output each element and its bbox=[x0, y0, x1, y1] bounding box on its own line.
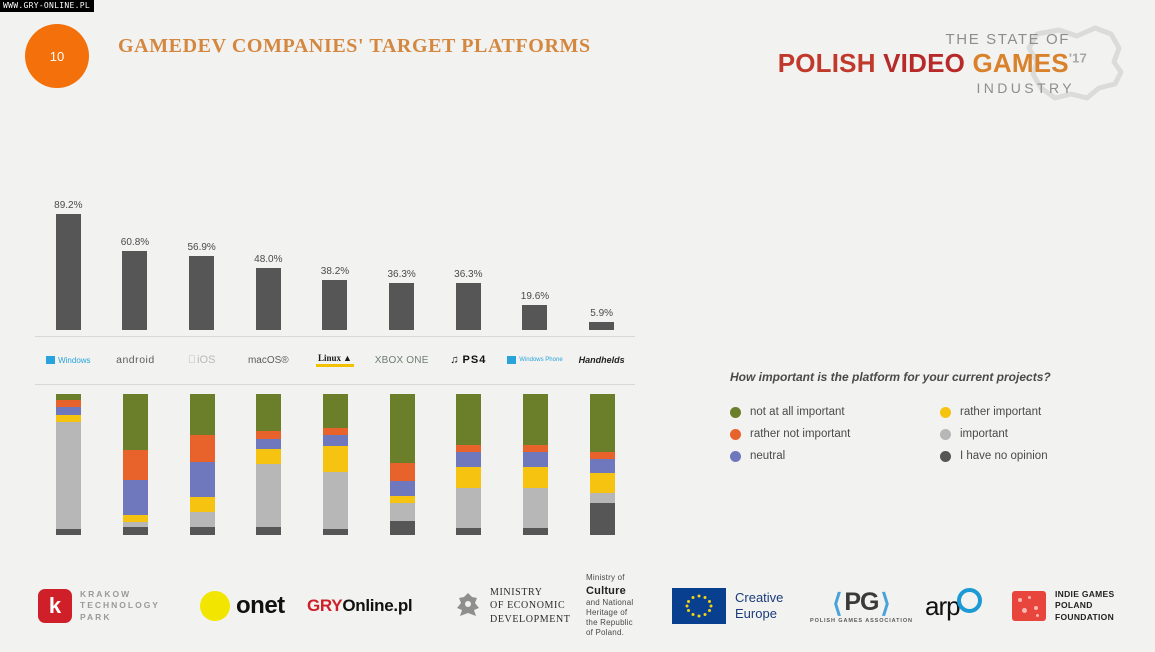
stacked-bar-column bbox=[102, 394, 169, 535]
chevron-right-icon: ⟩ bbox=[881, 590, 891, 616]
logo-creative-europe[interactable]: Creative Europe bbox=[672, 576, 783, 636]
bar-value-label: 60.8% bbox=[102, 237, 169, 248]
platform-label-windows-phone: Windows Phone bbox=[502, 336, 569, 384]
footer-sponsor-bar: k KRAKOW TECHNOLOGY PARK onet GRYOnline.… bbox=[0, 560, 1155, 652]
platform-label-android: android bbox=[102, 336, 169, 384]
bar-column: 56.9% bbox=[168, 242, 235, 330]
stack-segment bbox=[123, 527, 148, 535]
legend-label: neutral bbox=[750, 450, 785, 462]
legend-column-left: not at all importantrather not important… bbox=[730, 406, 910, 462]
stack-segment bbox=[390, 463, 415, 481]
legend-color-dot-icon bbox=[940, 429, 951, 440]
stack-segment bbox=[456, 445, 481, 452]
stack-segment bbox=[323, 435, 348, 446]
bar-rect bbox=[322, 280, 347, 330]
bar-column: 5.9% bbox=[568, 308, 635, 330]
stacked-bar bbox=[190, 394, 215, 535]
slide-number-text: 10 bbox=[50, 49, 64, 64]
logo-word-video: VIDEO bbox=[883, 48, 965, 78]
handhelds-logo-icon: Handhelds bbox=[579, 355, 625, 365]
stack-segment bbox=[190, 462, 215, 497]
legend-item[interactable]: I have no opinion bbox=[940, 450, 1120, 462]
stack-segment bbox=[390, 503, 415, 521]
platform-label-row: WindowsandroidiOSmacOS®Linux▲XBOX ONE♫P… bbox=[35, 336, 635, 384]
ktp-line-1: KRAKOW bbox=[80, 589, 160, 600]
stack-segment bbox=[590, 473, 615, 493]
stack-segment bbox=[56, 422, 81, 529]
bar-value-label: 48.0% bbox=[235, 254, 302, 265]
mc-line-2: Culture bbox=[586, 584, 633, 598]
logo-ministry-economic-development[interactable]: MINISTRY OF ECONOMIC DEVELOPMENT bbox=[455, 576, 570, 636]
stacked-bar-column bbox=[235, 394, 302, 535]
bar-value-label: 89.2% bbox=[35, 200, 102, 211]
platform-label-macos: macOS® bbox=[235, 336, 302, 384]
stack-segment bbox=[256, 449, 281, 465]
logo-word-polish: POLISH bbox=[778, 48, 876, 78]
bar-column: 38.2% bbox=[302, 266, 369, 330]
legend-column-right: rather importantimportantI have no opini… bbox=[940, 406, 1120, 462]
arp-ring-icon bbox=[957, 588, 982, 613]
stacked-bar bbox=[323, 394, 348, 535]
slide-number-badge: 10 bbox=[25, 24, 89, 88]
stack-segment bbox=[123, 394, 148, 450]
stack-segment bbox=[456, 452, 481, 468]
stack-segment bbox=[56, 415, 81, 422]
stack-segment bbox=[256, 464, 281, 526]
stack-segment bbox=[323, 472, 348, 530]
ministry-culture-text: Ministry of Culture and National Heritag… bbox=[586, 573, 633, 638]
stack-segment bbox=[523, 394, 548, 445]
mod-line-2: OF ECONOMIC bbox=[490, 599, 570, 613]
legend-label: I have no opinion bbox=[960, 450, 1048, 462]
bar-column: 89.2% bbox=[35, 200, 102, 330]
ktp-line-2: TECHNOLOGY bbox=[80, 600, 160, 611]
android-logo-icon: android bbox=[116, 355, 155, 366]
stacked-bar bbox=[590, 394, 615, 535]
legend-question: How important is the platform for your c… bbox=[730, 370, 1130, 384]
ps4-logo-icon: ♫PS4 bbox=[450, 354, 486, 366]
stacked-bar bbox=[56, 394, 81, 535]
stack-segment bbox=[590, 493, 615, 503]
stacked-bar-column bbox=[35, 394, 102, 535]
bar-column: 19.6% bbox=[502, 291, 569, 330]
stack-segment bbox=[323, 394, 348, 428]
stack-segment bbox=[190, 527, 215, 535]
stack-segment bbox=[390, 481, 415, 495]
stack-segment bbox=[323, 428, 348, 435]
stacked-bar-column bbox=[568, 394, 635, 535]
pga-text: PG bbox=[844, 588, 878, 617]
stack-segment bbox=[590, 394, 615, 452]
creative-europe-text: Creative Europe bbox=[735, 590, 783, 621]
stack-segment bbox=[456, 528, 481, 535]
ministry-economic-text: MINISTRY OF ECONOMIC DEVELOPMENT bbox=[490, 586, 570, 627]
logo-polish-games-association[interactable]: ⟨ PG ⟩ POLISH GAMES ASSOCIATION bbox=[810, 576, 913, 636]
bar-rect bbox=[56, 214, 81, 330]
igp-line-3: FOUNDATION bbox=[1055, 612, 1115, 623]
ktp-mark-icon: k bbox=[38, 589, 72, 623]
pga-subtitle: POLISH GAMES ASSOCIATION bbox=[810, 618, 913, 624]
stack-segment bbox=[523, 528, 548, 535]
stacked-bar bbox=[123, 394, 148, 535]
logo-word-games: GAMES bbox=[973, 48, 1069, 78]
stacked-bar-column bbox=[168, 394, 235, 535]
mc-line-3: and National bbox=[586, 598, 633, 608]
bar-column: 36.3% bbox=[368, 269, 435, 330]
stack-segment bbox=[190, 497, 215, 513]
bar-chart-target-platforms: 89.2%60.8%56.9%48.0%38.2%36.3%36.3%19.6%… bbox=[35, 160, 635, 330]
stack-segment bbox=[523, 452, 548, 468]
platform-label-ios: iOS bbox=[168, 336, 235, 384]
stack-segment bbox=[590, 503, 615, 535]
bar-rect bbox=[122, 251, 147, 330]
bar-rect bbox=[522, 305, 547, 330]
mod-line-1: MINISTRY bbox=[490, 586, 570, 600]
stacked-bar-chart-importance bbox=[35, 390, 635, 535]
chevron-left-icon: ⟨ bbox=[832, 590, 842, 616]
bar-rect bbox=[389, 283, 414, 330]
stack-segment bbox=[390, 394, 415, 463]
stack-segment bbox=[256, 439, 281, 449]
stacked-bar-column bbox=[368, 394, 435, 535]
legend-color-dot-icon bbox=[730, 407, 741, 418]
igp-line-2: POLAND bbox=[1055, 600, 1115, 611]
bar-rect bbox=[589, 322, 614, 330]
bar-column: 48.0% bbox=[235, 254, 302, 330]
legend-color-dot-icon bbox=[940, 407, 951, 418]
mc-line-4: Heritage of bbox=[586, 608, 633, 618]
stack-segment bbox=[390, 496, 415, 503]
bar-value-label: 19.6% bbox=[502, 291, 569, 302]
bar-value-label: 36.3% bbox=[368, 269, 435, 280]
stack-segment bbox=[56, 407, 81, 415]
mc-line-5: the Republic bbox=[586, 618, 633, 628]
bar-value-label: 38.2% bbox=[302, 266, 369, 277]
windows-phone-logo-icon: Windows Phone bbox=[507, 356, 562, 364]
stack-segment bbox=[190, 512, 215, 526]
platform-label-windows: Windows bbox=[35, 336, 102, 384]
bar-column: 60.8% bbox=[102, 237, 169, 330]
chart-region: 89.2%60.8%56.9%48.0%38.2%36.3%36.3%19.6%… bbox=[0, 140, 680, 510]
legend-label: rather important bbox=[960, 406, 1041, 418]
bar-value-label: 5.9% bbox=[568, 308, 635, 319]
logo-year: '17 bbox=[1069, 50, 1087, 65]
stacked-bar-column bbox=[302, 394, 369, 535]
stacked-bar bbox=[456, 394, 481, 535]
stack-segment bbox=[256, 431, 281, 439]
stack-segment bbox=[456, 394, 481, 445]
onet-dot-icon bbox=[200, 591, 230, 621]
logo-onet[interactable]: onet bbox=[200, 576, 285, 636]
legend-item[interactable]: neutral bbox=[730, 450, 910, 462]
igp-line-1: INDIE GAMES bbox=[1055, 589, 1115, 600]
stack-segment bbox=[523, 445, 548, 452]
stack-segment bbox=[256, 527, 281, 535]
ktp-text: KRAKOW TECHNOLOGY PARK bbox=[80, 589, 160, 623]
gryonline-part-2: Online.pl bbox=[342, 596, 412, 615]
platform-label-ps4: ♫PS4 bbox=[435, 336, 502, 384]
bar-value-label: 36.3% bbox=[435, 269, 502, 280]
logo-indie-games-poland-foundation[interactable]: INDIE GAMES POLAND FOUNDATION bbox=[1012, 576, 1115, 636]
legend-label: not at all important bbox=[750, 406, 845, 418]
legend-color-dot-icon bbox=[730, 451, 741, 462]
logo-krakow-technology-park[interactable]: k KRAKOW TECHNOLOGY PARK bbox=[38, 576, 160, 636]
legend-item[interactable]: rather important bbox=[940, 406, 1120, 418]
logo-line-industry: INDUSTRY bbox=[976, 80, 1075, 96]
indie-games-text: INDIE GAMES POLAND FOUNDATION bbox=[1055, 589, 1115, 623]
stack-segment bbox=[123, 450, 148, 480]
bar-rect bbox=[456, 283, 481, 330]
stacked-bar-column bbox=[435, 394, 502, 535]
platform-label-linux: Linux▲ bbox=[302, 336, 369, 384]
stacked-bar bbox=[256, 394, 281, 535]
divider-bottom bbox=[35, 384, 635, 385]
mc-line-6: of Poland. bbox=[586, 628, 633, 638]
stack-segment bbox=[390, 521, 415, 535]
stacked-bar-column bbox=[502, 394, 569, 535]
stack-segment bbox=[256, 394, 281, 431]
ce-line-1: Creative bbox=[735, 590, 783, 606]
stacked-bar bbox=[390, 394, 415, 535]
windows-logo-icon: Windows bbox=[46, 356, 90, 365]
indie-games-mark-icon bbox=[1012, 591, 1046, 621]
legend-item[interactable]: important bbox=[940, 428, 1120, 440]
legend-color-dot-icon bbox=[940, 451, 951, 462]
stack-segment bbox=[523, 488, 548, 527]
xbox-one-logo-icon: XBOX ONE bbox=[375, 355, 429, 366]
page-title: GAMEDEV COMPANIES' TARGET PLATFORMS bbox=[118, 35, 591, 58]
stacked-bar bbox=[523, 394, 548, 535]
arp-text: arp bbox=[925, 593, 960, 619]
stack-segment bbox=[323, 529, 348, 535]
bar-value-label: 56.9% bbox=[168, 242, 235, 253]
stack-segment bbox=[323, 446, 348, 471]
stack-segment bbox=[123, 515, 148, 522]
ios-logo-icon: iOS bbox=[188, 354, 216, 366]
logo-ministry-culture[interactable]: Ministry of Culture and National Heritag… bbox=[586, 576, 633, 636]
bar-rect bbox=[256, 268, 281, 330]
bar-column: 36.3% bbox=[435, 269, 502, 330]
onet-text: onet bbox=[236, 592, 285, 620]
platform-label-xbox-one: XBOX ONE bbox=[368, 336, 435, 384]
stack-segment bbox=[56, 529, 81, 535]
ce-line-2: Europe bbox=[735, 606, 783, 622]
stack-segment bbox=[190, 435, 215, 462]
bar-rect bbox=[189, 256, 214, 330]
mod-line-3: DEVELOPMENT bbox=[490, 613, 570, 627]
platform-label-handhelds: Handhelds bbox=[568, 336, 635, 384]
linux-logo-icon: Linux▲ bbox=[316, 353, 354, 367]
stack-segment bbox=[190, 394, 215, 435]
logo-gryonline[interactable]: GRYOnline.pl bbox=[307, 576, 412, 636]
stack-segment bbox=[456, 467, 481, 488]
logo-line-the-state-of: THE STATE OF bbox=[946, 31, 1070, 48]
stack-segment bbox=[590, 459, 615, 473]
legend-item[interactable]: rather not important bbox=[730, 428, 910, 440]
gryonline-part-1: GRY bbox=[307, 596, 342, 615]
legend-label: important bbox=[960, 428, 1008, 440]
report-logo: THE STATE OF POLISH VIDEO GAMES'17 INDUS… bbox=[885, 18, 1135, 108]
legend-item[interactable]: not at all important bbox=[730, 406, 910, 418]
stack-segment bbox=[56, 400, 81, 407]
ktp-line-3: PARK bbox=[80, 612, 160, 623]
macos-logo-icon: macOS® bbox=[248, 355, 289, 366]
stack-segment bbox=[456, 488, 481, 527]
legend-color-dot-icon bbox=[730, 429, 741, 440]
stack-segment bbox=[590, 452, 615, 459]
stack-segment bbox=[123, 480, 148, 515]
mc-line-1: Ministry of bbox=[586, 573, 633, 583]
watermark: WWW.GRY-ONLINE.PL bbox=[0, 0, 94, 12]
eu-flag-icon bbox=[672, 588, 726, 624]
logo-arp[interactable]: arp bbox=[925, 576, 982, 636]
polish-eagle-icon bbox=[455, 591, 481, 621]
stack-segment bbox=[523, 467, 548, 488]
legend-label: rather not important bbox=[750, 428, 850, 440]
legend: How important is the platform for your c… bbox=[730, 370, 1130, 462]
logo-line-main: POLISH VIDEO GAMES'17 bbox=[778, 48, 1087, 79]
